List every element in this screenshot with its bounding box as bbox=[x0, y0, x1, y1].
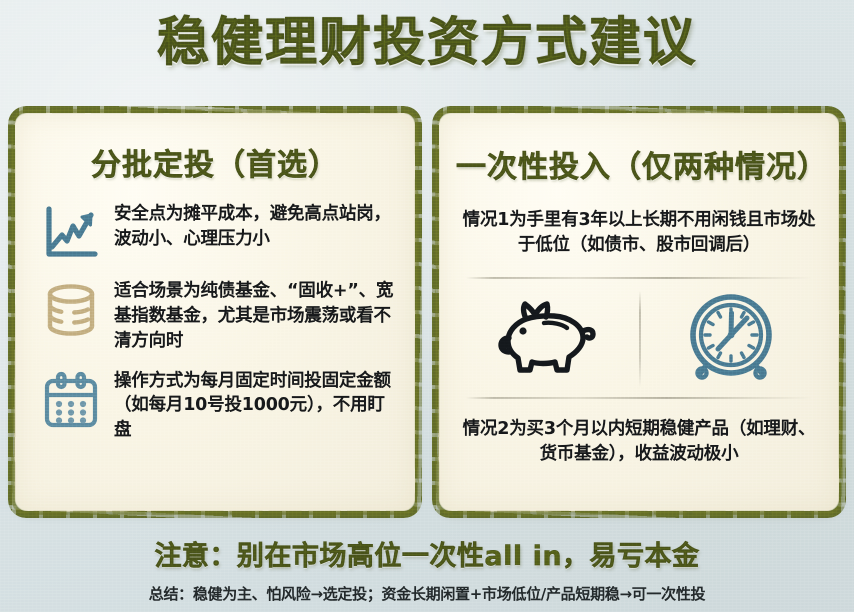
list-item: 操作方式为每月固定时间投固定金额（如每月10号投1000元），不用盯盘 bbox=[40, 367, 394, 444]
left-card-rows: 安全点为摊平成本，避免高点站岗，波动小、心理压力小 bbox=[32, 200, 398, 443]
card-lumpsum-investing[interactable]: 一次性投入（仅两种情况） 情况1为手里有3年以上长期不用闲钱且市场处于低位（如债… bbox=[438, 112, 840, 512]
list-item-text: 操作方式为每月固定时间投固定金额（如每月10号投1000元），不用盯盘 bbox=[114, 367, 394, 444]
left-card-heading: 分批定投（首选） bbox=[32, 140, 398, 184]
list-item: 适合场景为纯债基金、“固收+”、宽基指数基金，尤其是市场震荡或看不清方向时 bbox=[40, 277, 394, 354]
piggy-bank-cell bbox=[456, 298, 639, 380]
list-item: 安全点为摊平成本，避免高点站岗，波动小、心理压力小 bbox=[40, 200, 394, 264]
warning-text: 注意：别在市场高位一次性all in，易亏本金 bbox=[0, 534, 854, 573]
list-item-text: 安全点为摊平成本，避免高点站岗，波动小、心理压力小 bbox=[114, 200, 394, 252]
right-card-heading: 一次性投入（仅两种情况） bbox=[456, 142, 822, 186]
divider-bottom bbox=[466, 397, 812, 399]
divider-top bbox=[466, 277, 812, 279]
card-installment-investing[interactable]: 分批定投（首选） 安全点为摊平成本，避免高点站岗，波动小、心理压力小 bbox=[14, 112, 416, 512]
database-cylinder-icon bbox=[40, 279, 102, 341]
case-one-text: 情况1为手里有3年以上长期不用闲钱且市场处于低位（如债市、股市回调后） bbox=[456, 208, 822, 259]
list-item-text: 适合场景为纯债基金、“固收+”、宽基指数基金，尤其是市场震荡或看不清方向时 bbox=[114, 277, 394, 354]
case-two-text: 情况2为买3个月以内短期稳健产品（如理财、货币基金），收益波动极小 bbox=[456, 417, 822, 468]
line-chart-up-icon bbox=[40, 202, 102, 264]
alarm-clock-cell bbox=[639, 293, 822, 385]
page-title: 稳健理财投资方式建议 bbox=[0, 14, 854, 72]
calendar-icon bbox=[40, 369, 102, 431]
poster: 稳健理财投资方式建议 分批定投（首选） bbox=[0, 0, 854, 612]
alarm-clock-icon bbox=[685, 293, 777, 385]
piggy-bank-icon bbox=[496, 298, 600, 380]
summary-text: 总结：稳健为主、怕风险→选定投；资金长期闲置+市场低位/产品短期稳→可一次性投 bbox=[0, 583, 854, 604]
right-card-icon-band bbox=[456, 283, 822, 395]
divider-vertical bbox=[639, 291, 641, 387]
cards-container: 分批定投（首选） 安全点为摊平成本，避免高点站岗，波动小、心理压力小 bbox=[14, 112, 840, 512]
